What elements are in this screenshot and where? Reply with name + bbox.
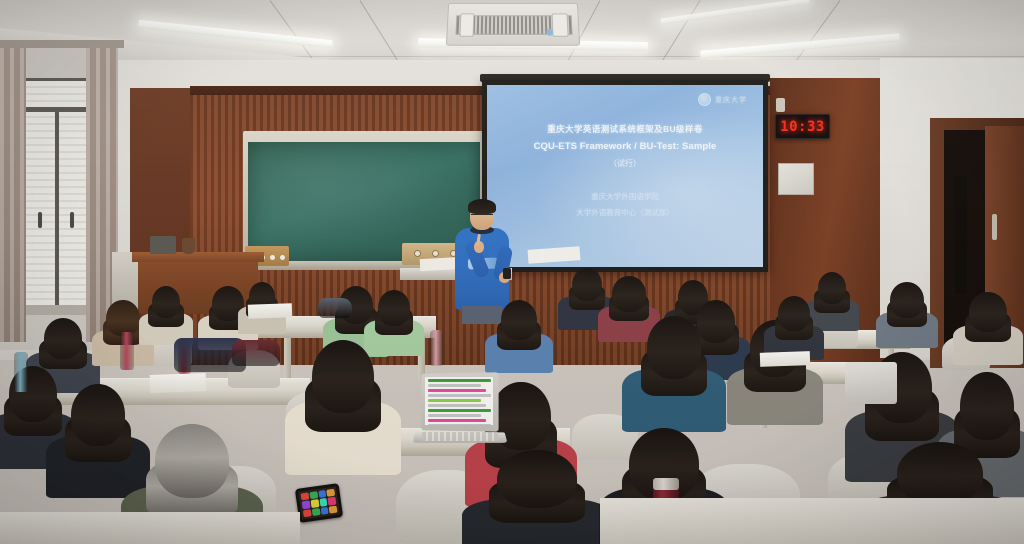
foreground-desk xyxy=(600,498,1024,544)
papers-on-desk xyxy=(248,303,292,319)
dark-red-handbag xyxy=(232,340,280,366)
papers-on-desk xyxy=(760,351,810,367)
classroom-photo-scene: 重庆大学 重庆大学英语测试系统框架及BU级样卷 CQU-ETS Framewor… xyxy=(0,0,1024,544)
water-bottle xyxy=(430,330,443,366)
papers-on-desk xyxy=(150,373,207,393)
desk-props xyxy=(0,0,1024,544)
water-bottle xyxy=(120,332,134,370)
water-bottle xyxy=(14,352,28,392)
shoulder-strap-bag xyxy=(318,298,352,318)
foreground-desk-left xyxy=(0,512,300,544)
